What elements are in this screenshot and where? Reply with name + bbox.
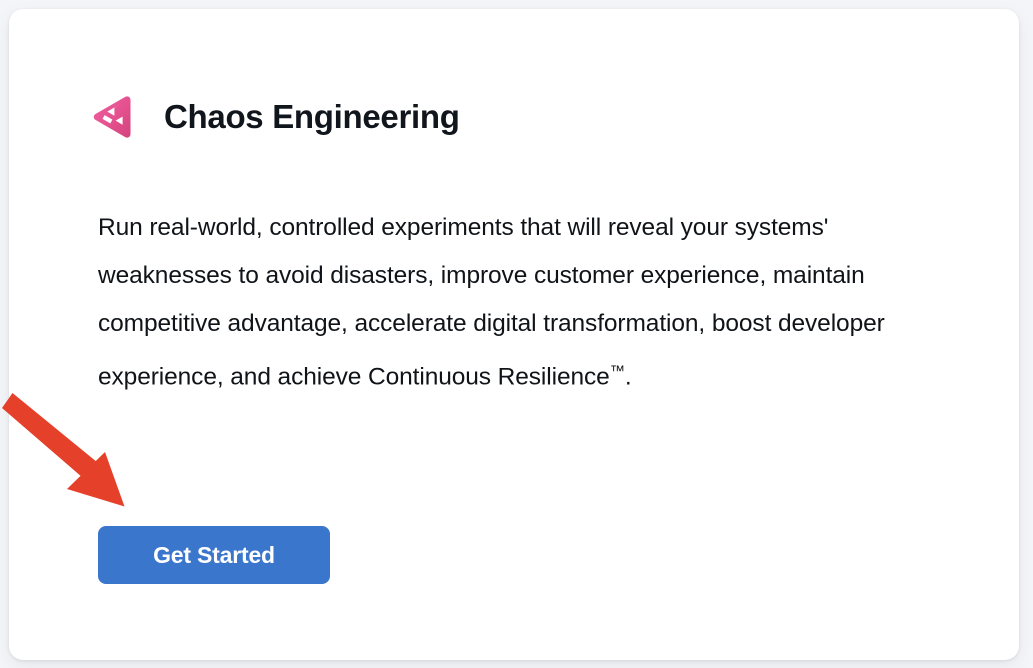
trademark-symbol: ™ bbox=[610, 363, 625, 380]
card-description-period: . bbox=[625, 363, 632, 390]
card-header: Chaos Engineering bbox=[89, 89, 460, 145]
harness-logo-icon bbox=[89, 94, 164, 140]
get-started-button[interactable]: Get Started bbox=[98, 526, 330, 584]
card-description-text: Run real-world, controlled experiments t… bbox=[98, 214, 885, 390]
card-description: Run real-world, controlled experiments t… bbox=[98, 204, 950, 401]
chaos-engineering-card: Chaos Engineering Run real-world, contro… bbox=[9, 9, 1019, 660]
page-title: Chaos Engineering bbox=[164, 97, 460, 137]
page-root: Chaos Engineering Run real-world, contro… bbox=[0, 0, 1033, 668]
